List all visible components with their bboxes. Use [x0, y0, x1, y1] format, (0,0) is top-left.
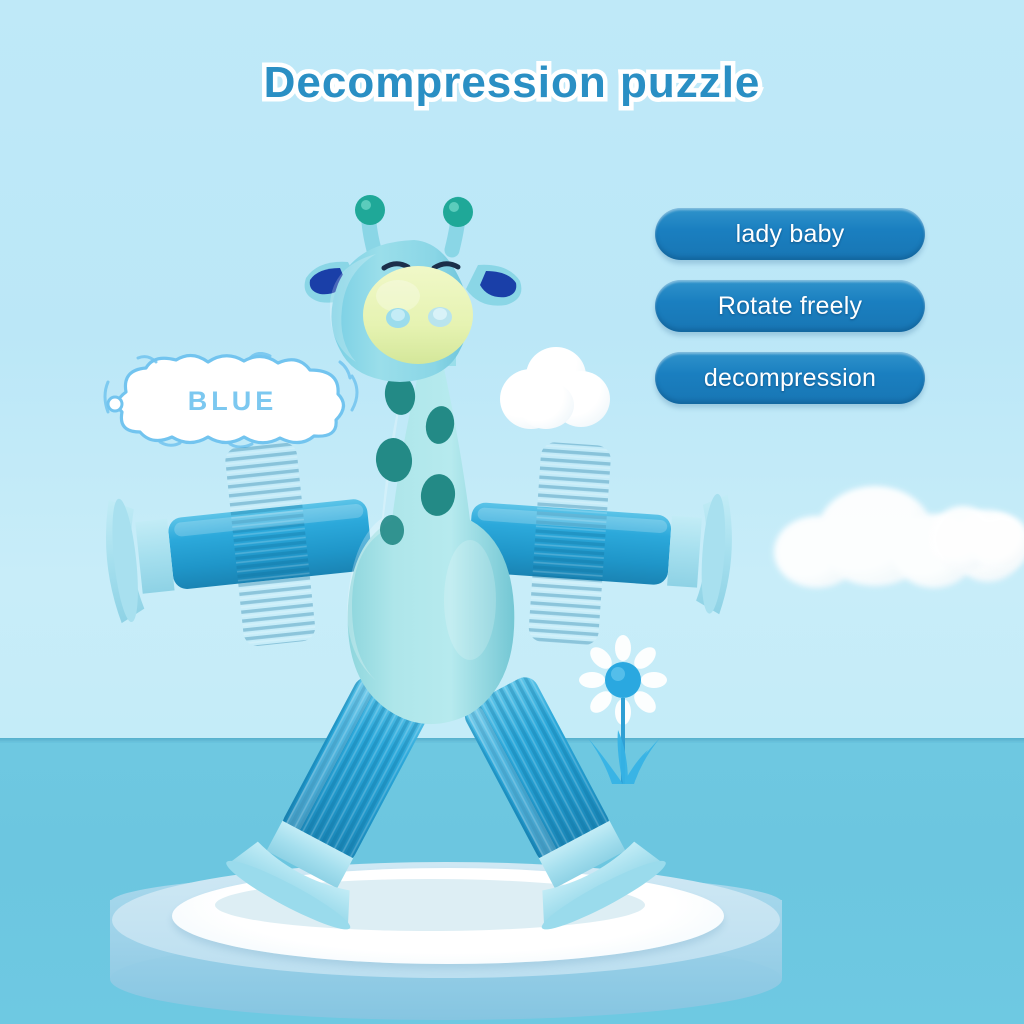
feature-badge-rotate-freely[interactable]: Rotate freely — [655, 280, 925, 332]
muzzle — [363, 266, 473, 364]
page-title: Decompression puzzle — [0, 58, 1024, 108]
feature-badge-decompression[interactable]: decompression — [655, 352, 925, 404]
feature-badge-lady-baby[interactable]: lady baby — [655, 208, 925, 260]
feature-badge-label: decompression — [704, 364, 876, 393]
giraffe-toy — [0, 0, 1024, 1024]
feature-badge-label: lady baby — [736, 220, 845, 249]
giraffe-head — [305, 195, 522, 382]
product-banner: BLUE — [0, 0, 1024, 1024]
feature-badge-label: Rotate freely — [718, 292, 862, 321]
feature-badge-list: lady baby Rotate freely decompression — [655, 208, 925, 424]
left-arm — [101, 434, 380, 654]
